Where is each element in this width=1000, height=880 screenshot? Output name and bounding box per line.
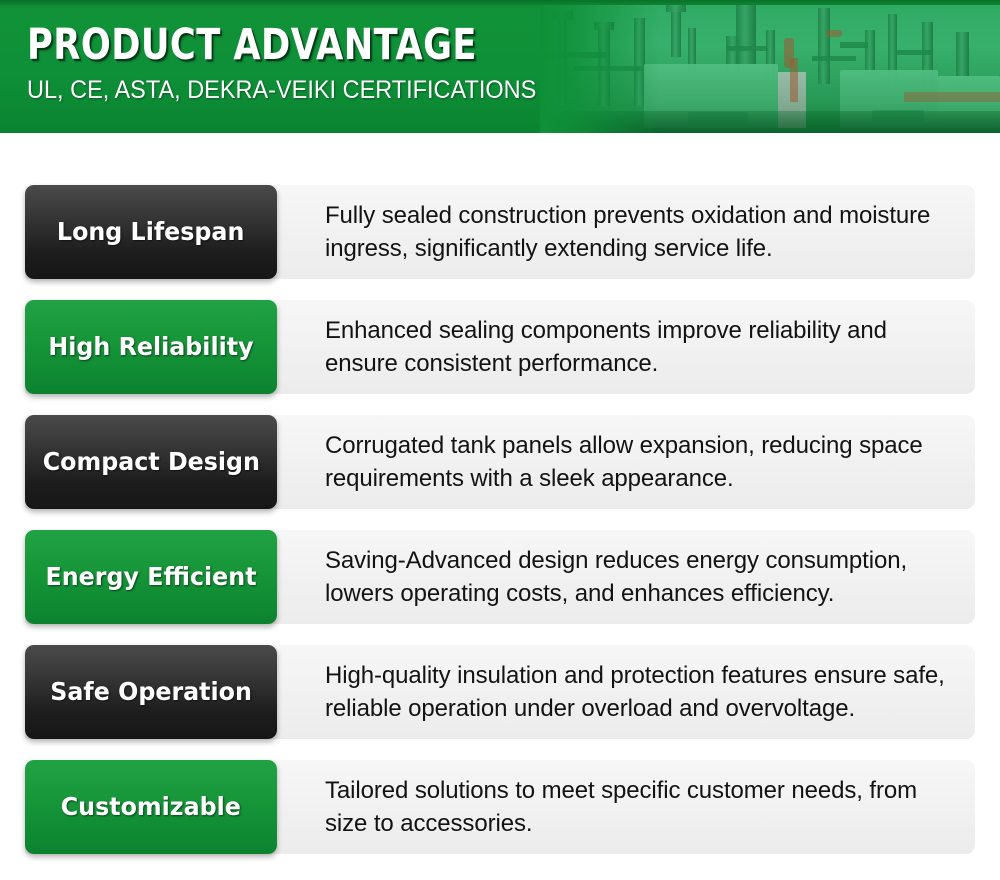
feature-label-safe-operation: Safe Operation — [25, 645, 277, 739]
feature-row: Enhanced sealing components improve reli… — [0, 300, 1000, 394]
banner-top-strip — [0, 0, 1000, 5]
feature-list: Fully sealed construction prevents oxida… — [0, 133, 1000, 875]
feature-label-text: Customizable — [61, 793, 241, 821]
feature-description-text: Fully sealed construction prevents oxida… — [325, 199, 949, 265]
refinery-photo — [540, 0, 1000, 133]
feature-label-energy-efficient: Energy Efficient — [25, 530, 277, 624]
refinery-silhouette — [540, 0, 1000, 133]
feature-label-high-reliability: High Reliability — [25, 300, 277, 394]
feature-row: Corrugated tank panels allow expansion, … — [0, 415, 1000, 509]
feature-label-text: Compact Design — [42, 448, 259, 476]
feature-description-text: Tailored solutions to meet specific cust… — [325, 774, 949, 840]
feature-label-long-lifespan: Long Lifespan — [25, 185, 277, 279]
feature-description-text: Saving-Advanced design reduces energy co… — [325, 544, 949, 610]
feature-label-text: Energy Efficient — [45, 563, 256, 591]
feature-row: Saving-Advanced design reduces energy co… — [0, 530, 1000, 624]
banner-text-block: PRODUCT ADVANTAGE UL, CE, ASTA, DEKRA-VE… — [27, 22, 576, 104]
page-header-banner: PRODUCT ADVANTAGE UL, CE, ASTA, DEKRA-VE… — [0, 0, 1000, 133]
feature-label-compact-design: Compact Design — [25, 415, 277, 509]
feature-description-text: Enhanced sealing components improve reli… — [325, 314, 949, 380]
feature-description-text: High-quality insulation and protection f… — [325, 659, 949, 725]
page-subtitle: UL, CE, ASTA, DEKRA-VEIKI CERTIFICATIONS — [27, 76, 543, 104]
feature-label-text: Long Lifespan — [57, 218, 244, 246]
feature-label-text: Safe Operation — [50, 678, 252, 706]
feature-description-text: Corrugated tank panels allow expansion, … — [325, 429, 949, 495]
photo-ground-line — [540, 111, 1000, 133]
feature-row: Tailored solutions to meet specific cust… — [0, 760, 1000, 854]
page-title: PRODUCT ADVANTAGE — [27, 22, 477, 68]
feature-label-customizable: Customizable — [25, 760, 277, 854]
feature-row: Fully sealed construction prevents oxida… — [0, 185, 1000, 279]
feature-label-text: High Reliability — [48, 333, 253, 361]
feature-row: High-quality insulation and protection f… — [0, 645, 1000, 739]
